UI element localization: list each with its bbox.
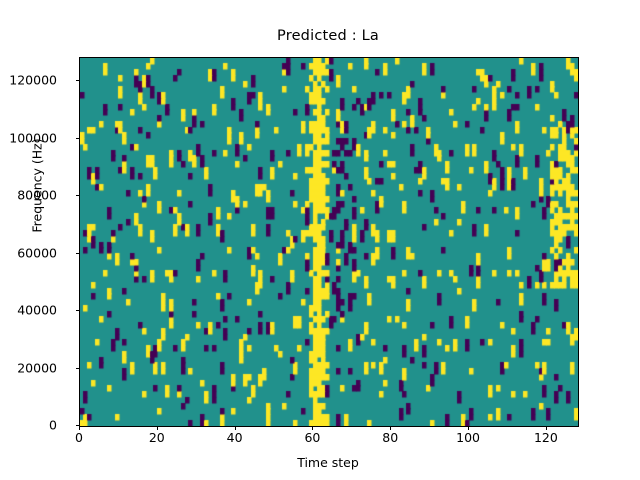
x-tick-label: 20 — [122, 430, 192, 445]
heatmap-image — [80, 58, 578, 426]
y-tick-label: 40000 — [0, 303, 57, 318]
matplotlib-figure: Predicted : La Frequency (Hz) Time step … — [0, 0, 640, 480]
y-tick-label: 80000 — [0, 188, 57, 203]
page-title: Predicted : La — [79, 28, 577, 44]
x-tick-label: 60 — [277, 430, 347, 445]
x-tick-label: 80 — [355, 430, 425, 445]
x-axis-label: Time step — [79, 455, 577, 470]
y-tick-label: 100000 — [0, 130, 57, 145]
y-tick-label: 20000 — [0, 360, 57, 375]
y-tick-label: 60000 — [0, 245, 57, 260]
x-tick-label: 40 — [200, 430, 270, 445]
y-tick-label: 120000 — [0, 73, 57, 88]
x-tick-label: 100 — [433, 430, 503, 445]
heatmap-axes — [79, 57, 579, 427]
x-tick-label: 0 — [44, 430, 114, 445]
x-tick-label: 120 — [511, 430, 581, 445]
